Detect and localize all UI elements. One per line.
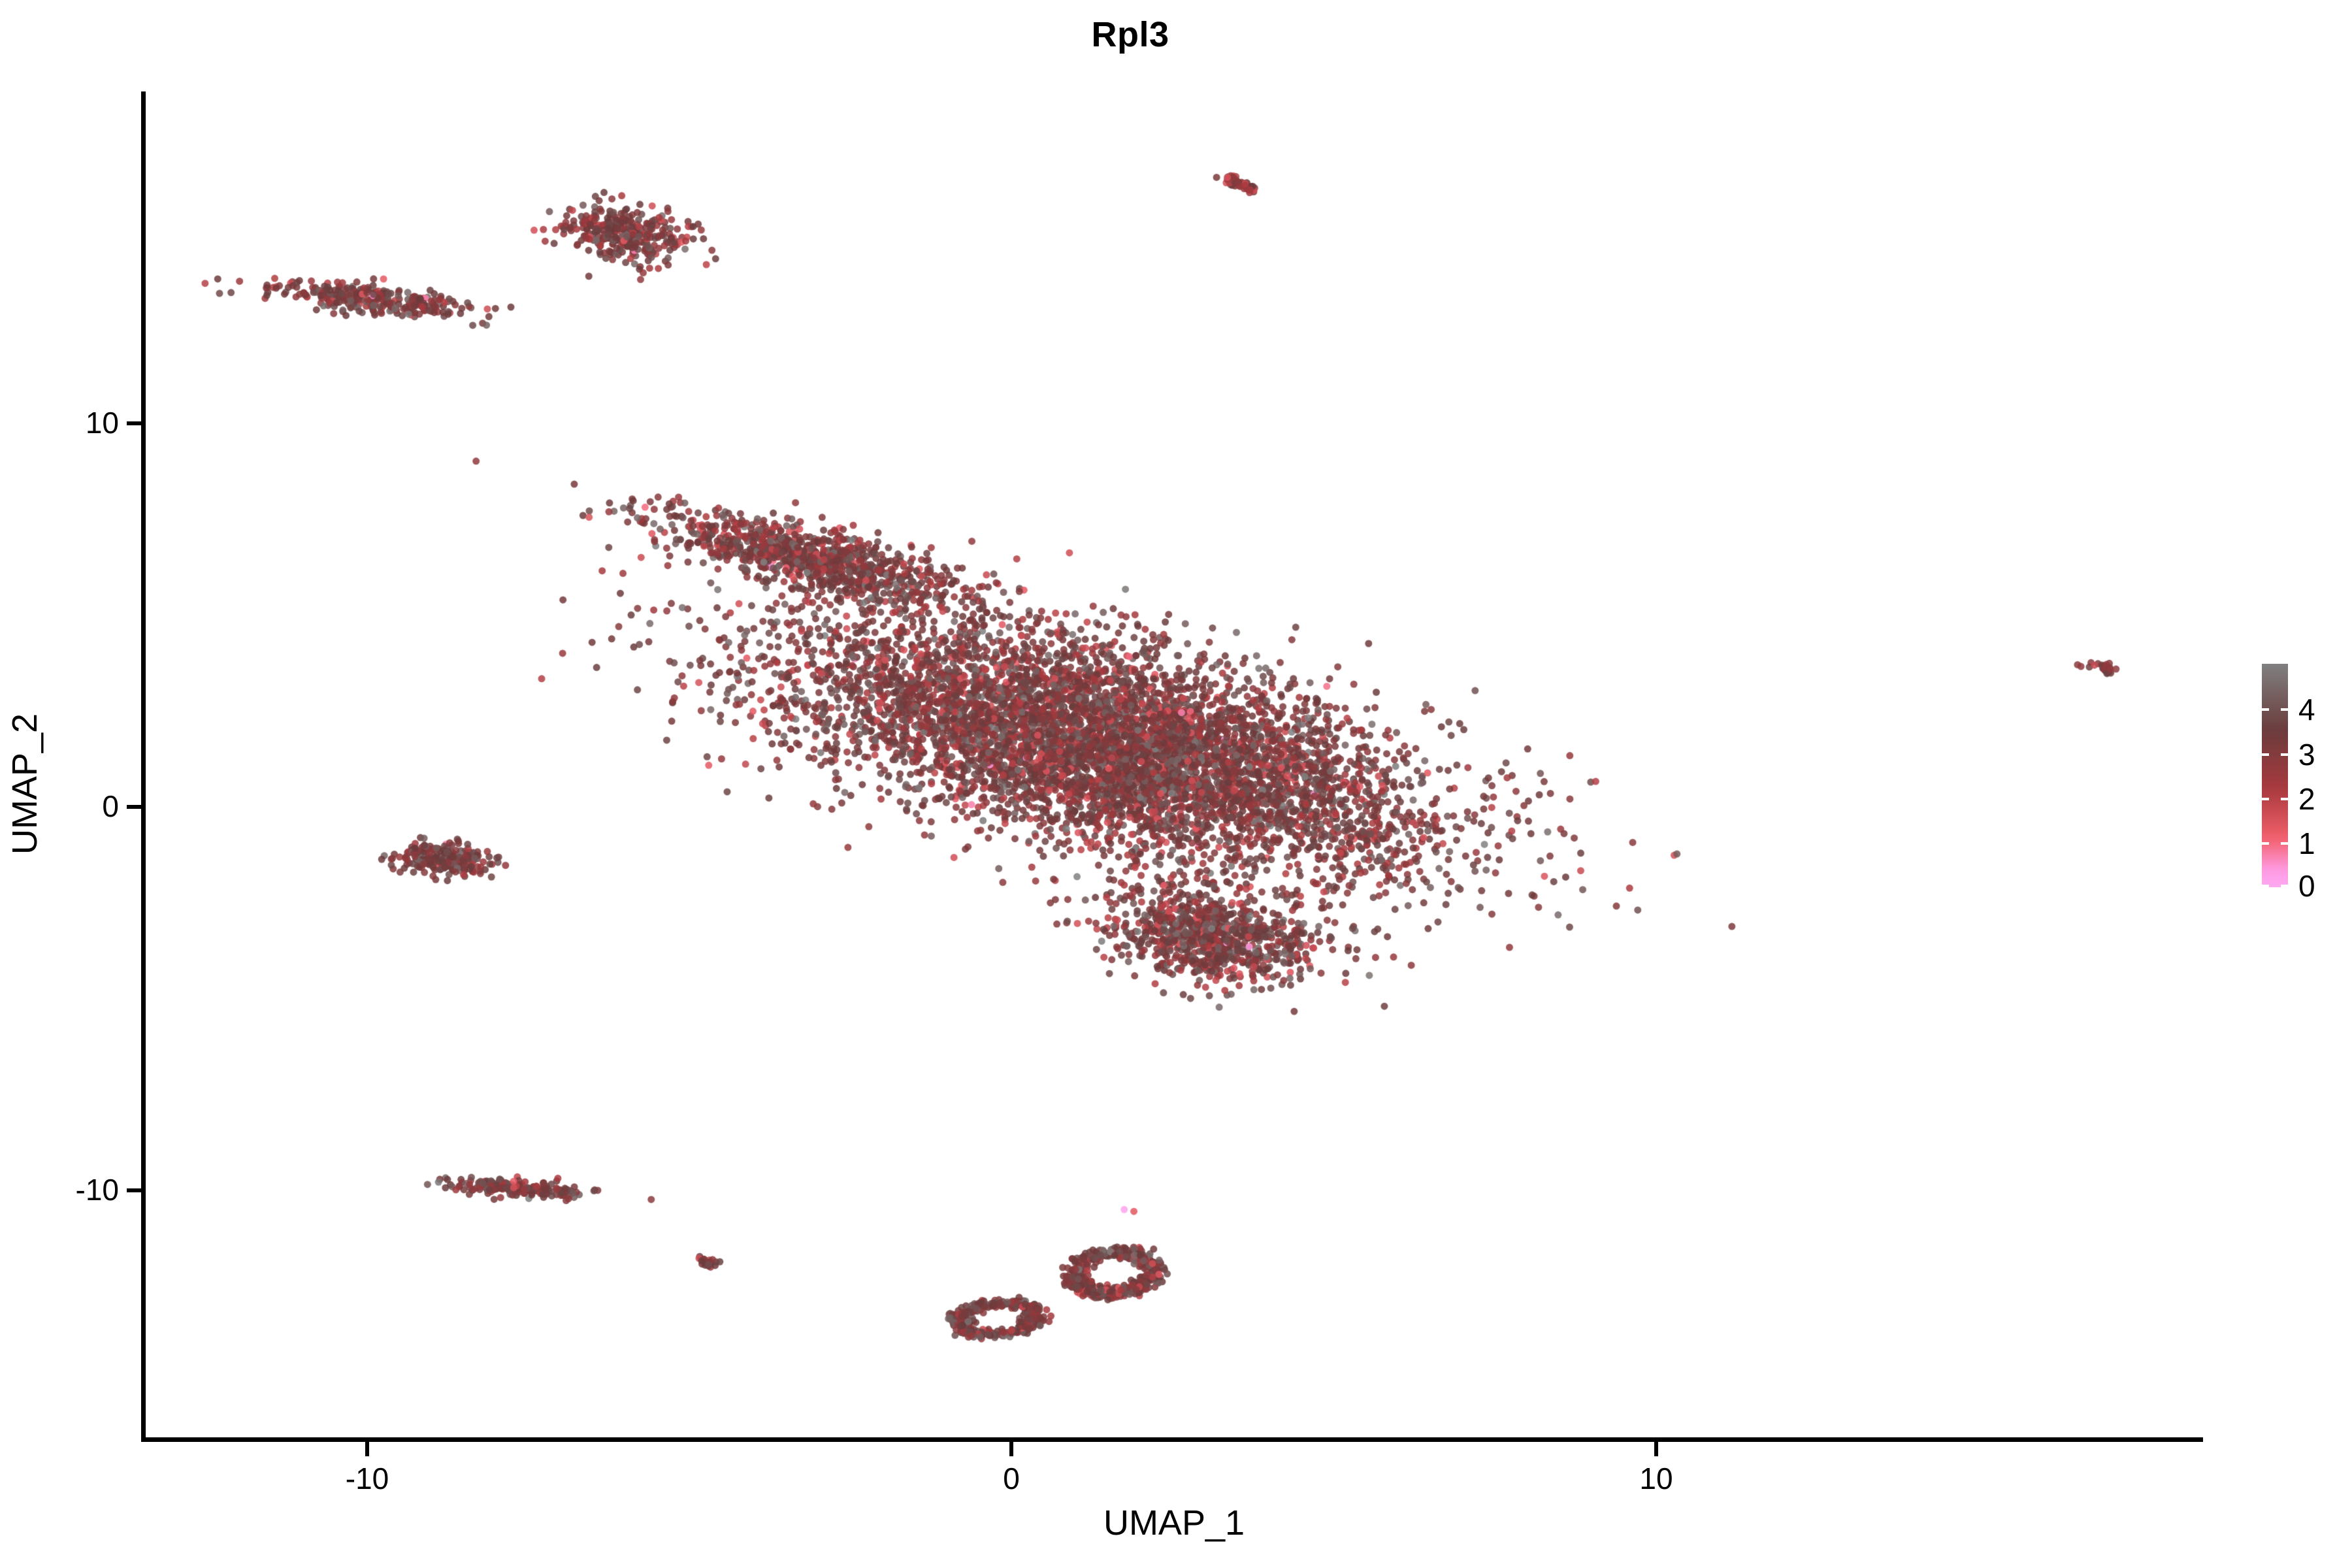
legend-label-0: 0 — [2298, 871, 2315, 901]
y-tick-mark-10 — [127, 421, 141, 425]
legend-label-3: 3 — [2298, 740, 2315, 770]
x-tick-label-neg10: -10 — [346, 1461, 389, 1496]
y-tick-label-0: 0 — [102, 789, 119, 824]
x-tick-label-10: 10 — [1639, 1461, 1673, 1496]
plot-panel — [145, 91, 2203, 1439]
y-tick-mark-neg10 — [127, 1188, 141, 1192]
y-axis-title: UMAP_2 — [0, 0, 50, 1568]
x-tick-mark-10 — [1654, 1442, 1658, 1456]
y-tick-label-10: 10 — [86, 405, 119, 440]
y-axis-line — [141, 91, 146, 1441]
legend-label-4: 4 — [2298, 694, 2315, 725]
x-axis-line — [141, 1437, 2203, 1442]
legend-label-1: 1 — [2298, 828, 2315, 858]
umap-feature-plot: Rpl3 10 0 -10 -10 0 10 UMAP_2 UMAP_1 — [0, 0, 2352, 1568]
y-tick-label-neg10: -10 — [76, 1172, 119, 1207]
scatter-points-canvas — [145, 91, 2203, 1439]
x-tick-label-0: 0 — [1003, 1461, 1020, 1496]
x-tick-mark-0 — [1009, 1442, 1013, 1456]
legend-label-2: 2 — [2298, 784, 2315, 814]
legend-colorbar: 4 3 2 1 0 — [2262, 664, 2347, 887]
legend-gradient-bar — [2262, 664, 2288, 887]
page-title: Rpl3 — [0, 14, 2261, 55]
x-axis-title: UMAP_1 — [145, 1503, 2203, 1543]
y-tick-mark-0 — [127, 805, 141, 809]
x-tick-mark-neg10 — [365, 1442, 369, 1456]
